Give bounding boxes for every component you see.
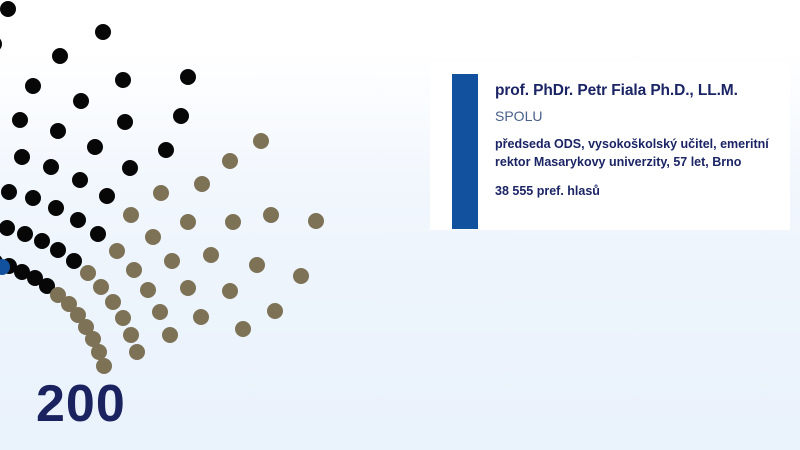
party-name: SPOLU xyxy=(495,108,782,126)
seat-pirstan[interactable] xyxy=(308,213,324,229)
seat-ano[interactable] xyxy=(52,48,68,64)
seat-pirstan[interactable] xyxy=(203,247,219,263)
seat-ano[interactable] xyxy=(180,69,196,85)
seat-ano[interactable] xyxy=(43,159,59,175)
seat-ano[interactable] xyxy=(122,160,138,176)
seat-pirstan[interactable] xyxy=(126,262,142,278)
seat-ano[interactable] xyxy=(73,93,89,109)
seat-pirstan[interactable] xyxy=(263,207,279,223)
seat-ano[interactable] xyxy=(14,149,30,165)
seat-ano[interactable] xyxy=(48,200,64,216)
seat-ano[interactable] xyxy=(50,242,66,258)
hemicycle-chart-stage: 200 prof. PhDr. Petr Fiala Ph.D., LL.M. … xyxy=(0,0,800,450)
preferential-votes: 38 555 pref. hlasů xyxy=(495,183,782,199)
seat-pirstan[interactable] xyxy=(225,214,241,230)
party-color-swatch xyxy=(452,74,478,229)
seat-pirstan[interactable] xyxy=(293,268,309,284)
seat-ano[interactable] xyxy=(0,220,15,236)
seat-ano[interactable] xyxy=(173,108,189,124)
seat-pirstan[interactable] xyxy=(253,133,269,149)
seat-pirstan[interactable] xyxy=(193,309,209,325)
seat-ano[interactable] xyxy=(72,172,88,188)
candidate-description: předseda ODS, vysokoškolský učitel, emer… xyxy=(495,136,782,172)
seat-ano[interactable] xyxy=(25,190,41,206)
seat-pirstan[interactable] xyxy=(96,358,112,374)
seat-pirstan[interactable] xyxy=(222,283,238,299)
seat-ano[interactable] xyxy=(17,226,33,242)
seat-pirstan[interactable] xyxy=(140,282,156,298)
seat-pirstan[interactable] xyxy=(123,207,139,223)
seat-ano[interactable] xyxy=(158,142,174,158)
seat-ano[interactable] xyxy=(50,123,66,139)
seat-pirstan[interactable] xyxy=(115,310,131,326)
seat-ano[interactable] xyxy=(90,226,106,242)
seat-pirstan[interactable] xyxy=(152,304,168,320)
seat-pirstan[interactable] xyxy=(180,214,196,230)
seat-pirstan[interactable] xyxy=(93,279,109,295)
seat-ano[interactable] xyxy=(12,112,28,128)
seat-ano[interactable] xyxy=(1,184,17,200)
seat-pirstan[interactable] xyxy=(235,321,251,337)
seat-ano[interactable] xyxy=(66,253,82,269)
seat-pirstan[interactable] xyxy=(80,265,96,281)
seat-pirstan[interactable] xyxy=(153,185,169,201)
seat-ano[interactable] xyxy=(0,1,16,17)
seat-ano[interactable] xyxy=(117,114,133,130)
seat-pirstan[interactable] xyxy=(194,176,210,192)
seat-pirstan[interactable] xyxy=(145,229,161,245)
seat-ano[interactable] xyxy=(95,24,111,40)
seat-ano[interactable] xyxy=(25,78,41,94)
seat-ano[interactable] xyxy=(87,139,103,155)
seat-pirstan[interactable] xyxy=(162,327,178,343)
seat-pirstan[interactable] xyxy=(164,253,180,269)
seat-pirstan[interactable] xyxy=(249,257,265,273)
seat-pirstan[interactable] xyxy=(109,243,125,259)
seat-pirstan[interactable] xyxy=(267,303,283,319)
total-seats-label: 200 xyxy=(36,378,126,430)
seat-ano[interactable] xyxy=(99,188,115,204)
seat-ano[interactable] xyxy=(115,72,131,88)
candidate-info-text: prof. PhDr. Petr Fiala Ph.D., LL.M. SPOL… xyxy=(495,82,782,199)
seat-pirstan[interactable] xyxy=(222,153,238,169)
seat-ano[interactable] xyxy=(34,233,50,249)
seat-pirstan[interactable] xyxy=(105,294,121,310)
seat-ano[interactable] xyxy=(70,212,86,228)
seat-ano[interactable] xyxy=(0,36,2,52)
seat-pirstan[interactable] xyxy=(180,280,196,296)
seat-pirstan[interactable] xyxy=(129,344,145,360)
candidate-name: prof. PhDr. Petr Fiala Ph.D., LL.M. xyxy=(495,82,782,101)
candidate-info-card: prof. PhDr. Petr Fiala Ph.D., LL.M. SPOL… xyxy=(430,62,790,230)
seat-pirstan[interactable] xyxy=(123,327,139,343)
